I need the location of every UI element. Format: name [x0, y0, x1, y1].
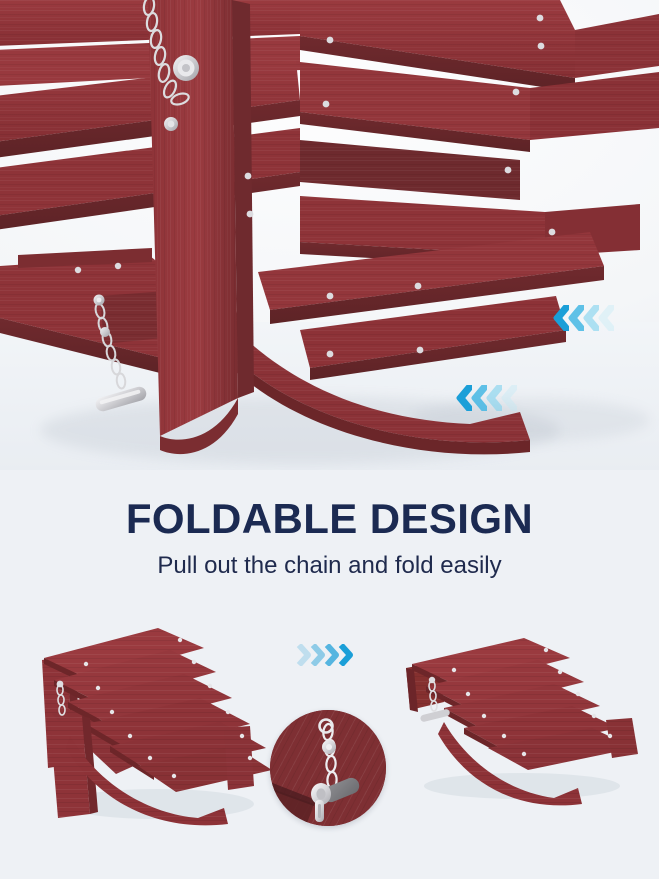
chain-pin-detail [270, 710, 386, 826]
chevron-group-lower [455, 385, 517, 411]
hero-front-post [148, 0, 254, 454]
chain-anchor [57, 681, 64, 688]
hero-post-screw [164, 117, 178, 131]
chevron-right-icon [338, 644, 353, 666]
chevron-right-icon [296, 644, 311, 666]
chevron-right-icon [324, 644, 339, 666]
seat-slats [412, 638, 634, 770]
hero-photo [0, 0, 659, 472]
chevron-group-upper [552, 305, 614, 331]
ottoman-unfolded [28, 618, 278, 828]
product-feature-image: FOLDABLE DESIGN Pull out the chain and f… [0, 0, 659, 879]
fold-transition-arrows [296, 644, 353, 666]
subheadline: Pull out the chain and fold easily [157, 553, 501, 579]
chevron-right-icon [310, 644, 325, 666]
ottoman-folded [392, 636, 642, 816]
hero-product-illustration [0, 0, 659, 472]
text-block: FOLDABLE DESIGN Pull out the chain and f… [0, 470, 659, 600]
chain-anchor [429, 677, 435, 683]
chevron-left-icon [597, 305, 614, 331]
chevron-left-icon [500, 385, 517, 411]
hero-post-knob [173, 55, 199, 81]
headline: FOLDABLE DESIGN [126, 498, 533, 540]
